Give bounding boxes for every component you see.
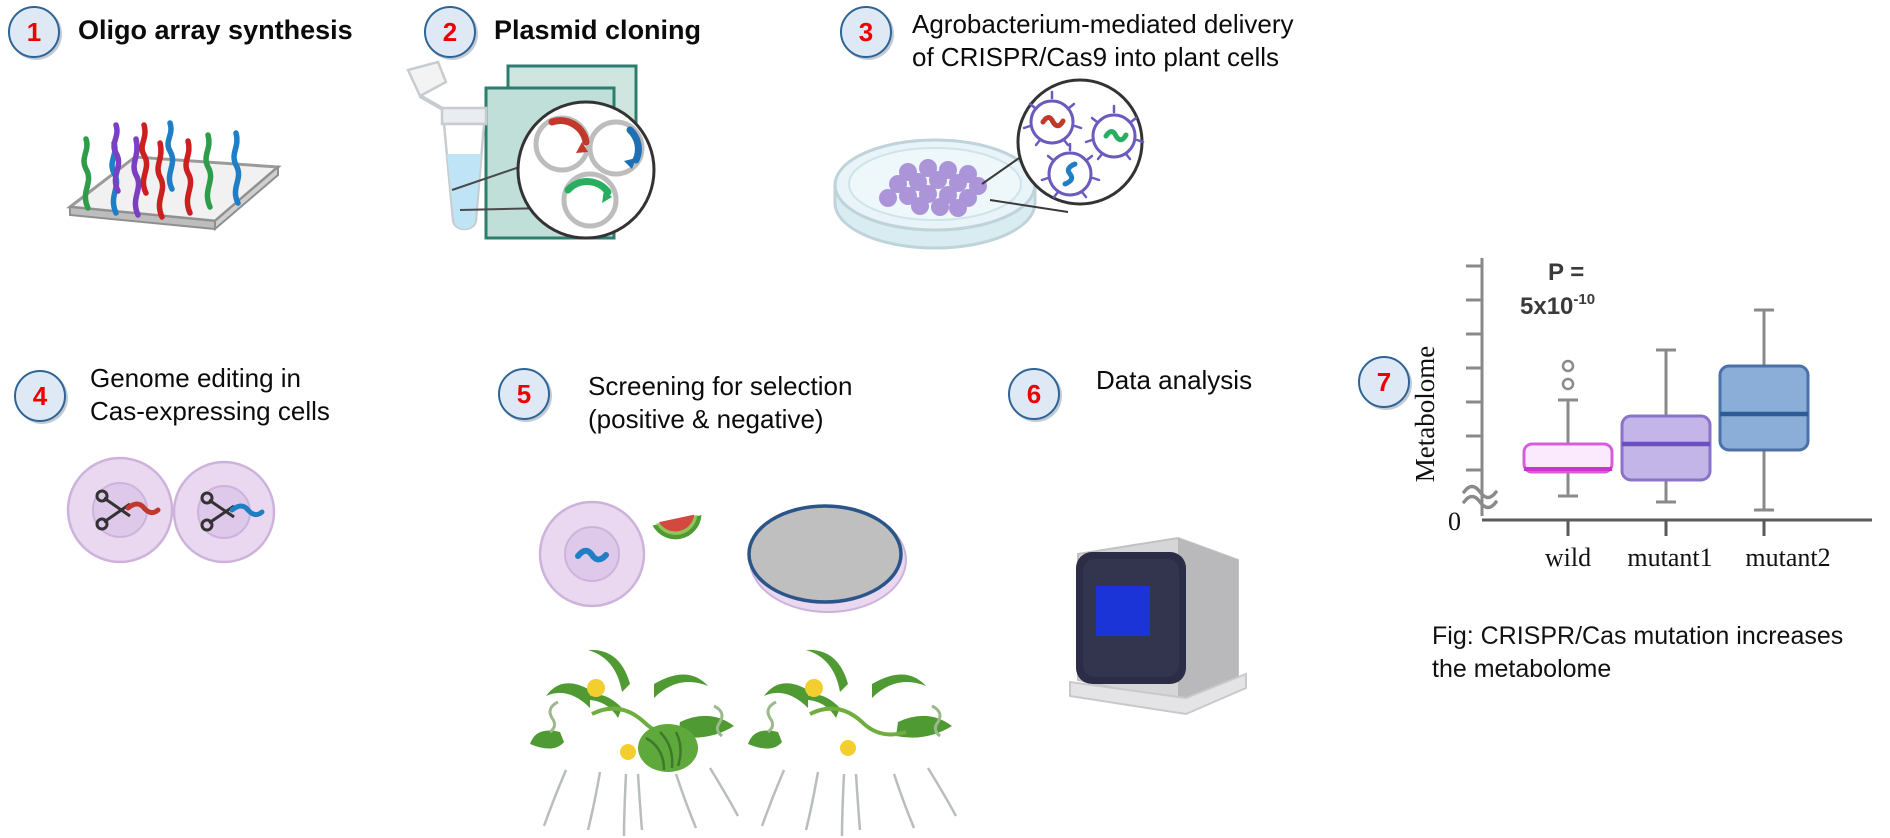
pvalue-annotation-line1: P = [1548, 259, 1584, 286]
y-zero-label: 0 [1448, 507, 1461, 536]
oligo-array-icon [40, 95, 300, 235]
boxplot-outlier [1563, 361, 1573, 371]
x-tick-label-mutant1: mutant1 [1627, 543, 1712, 572]
step-badge-5[interactable]: 5 [498, 368, 550, 420]
boxplot-box-mutant1 [1622, 350, 1710, 502]
plasmid-tube-icon [390, 60, 660, 275]
step-number-1: 1 [27, 17, 41, 48]
figure-caption-line2: the metabolome [1432, 653, 1890, 686]
pvalue-exponent: -10 [1573, 291, 1595, 308]
x-tick-label-wild: wild [1545, 543, 1591, 572]
step-number-7: 7 [1377, 367, 1391, 398]
step-badge-4[interactable]: 4 [14, 370, 66, 422]
pvalue-annotation-line2: 5x10-10 [1520, 291, 1595, 320]
y-axis-label: Metabolome [1410, 346, 1440, 482]
petri-dish-icon [830, 80, 1150, 270]
step-number-4: 4 [33, 381, 47, 412]
step-number-5: 5 [517, 379, 531, 410]
x-tick-label-mutant2: mutant2 [1745, 543, 1830, 572]
step-badge-7[interactable]: 7 [1358, 356, 1410, 408]
boxplot-icon: 0 Metabolome P = 5x10-10 [1420, 248, 1890, 598]
step-number-3: 3 [859, 17, 873, 48]
figure-caption-line1: Fig: CRISPR/Cas mutation increases [1432, 620, 1890, 653]
step-badge-3[interactable]: 3 [840, 6, 892, 58]
step-title-5-line2: (positive & negative) [588, 403, 852, 436]
step-badge-1[interactable]: 1 [8, 6, 60, 58]
boxplot-box-mutant2 [1720, 310, 1808, 510]
step-number-6: 6 [1027, 379, 1041, 410]
step-title-2: Plasmid cloning [494, 14, 701, 48]
step-badge-2[interactable]: 2 [424, 6, 476, 58]
step-title-4-line2: Cas-expressing cells [90, 395, 330, 428]
axis-break-icon [1464, 487, 1496, 508]
step-title-3: Agrobacterium-mediated delivery of CRISP… [912, 8, 1294, 73]
step-title-5: Screening for selection (positive & nega… [588, 370, 852, 435]
step-title-3-line1: Agrobacterium-mediated delivery [912, 8, 1294, 41]
step-title-4-line1: Genome editing in [90, 362, 330, 395]
step-badge-6[interactable]: 6 [1008, 368, 1060, 420]
pvalue-base: 5x10 [1520, 293, 1573, 320]
figure-caption: Fig: CRISPR/Cas mutation increases the m… [1432, 620, 1890, 685]
sequencer-icon [1050, 530, 1270, 730]
step-title-3-line2: of CRISPR/Cas9 into plant cells [912, 41, 1294, 74]
boxplot-box-wild [1524, 361, 1612, 496]
boxplot-outlier [1563, 379, 1573, 389]
cell-scissors-icon [62, 452, 282, 572]
step-title-6: Data analysis [1096, 364, 1252, 397]
step-title-4: Genome editing in Cas-expressing cells [90, 362, 330, 427]
screening-plants-icon [520, 498, 980, 828]
step-title-5-line1: Screening for selection [588, 370, 852, 403]
step-title-1: Oligo array synthesis [78, 14, 353, 48]
step-number-2: 2 [443, 17, 457, 48]
